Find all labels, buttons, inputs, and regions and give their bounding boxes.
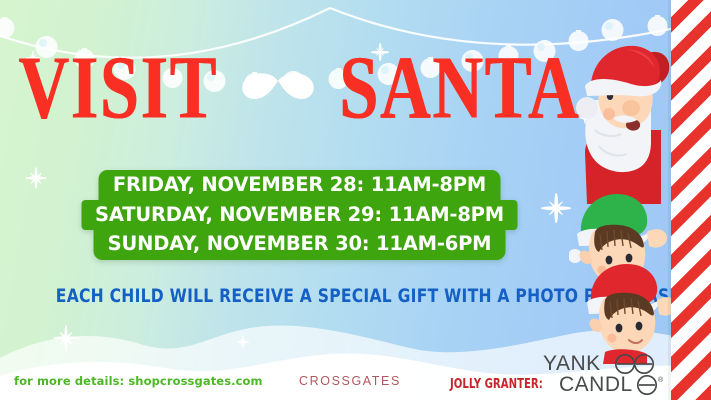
details-url[interactable]: for more details: shopcrossgates.com <box>14 374 263 388</box>
headline-word-visit: VISIT <box>18 46 218 131</box>
jolly-granter-label: JOLLY GRANTER: <box>450 377 543 392</box>
elf-red-hat-icon <box>587 264 677 364</box>
gift-tagline: EACH CHILD WILL RECEIVE A SPECIAL GIFT W… <box>56 285 564 307</box>
yankee-candle-line2: CANDL <box>559 373 633 395</box>
mustache-icon <box>241 68 315 108</box>
schedule-line-friday: FRIDAY, NOVEMBER 28: 11AM-8PM <box>99 170 500 201</box>
santa-claus-icon <box>576 46 669 204</box>
registered-trademark-icon: ® <box>658 376 664 384</box>
headline-word-santa: SANTA <box>339 46 580 131</box>
schedule-line-saturday: SATURDAY, NOVEMBER 29: 11AM-8PM <box>81 200 518 231</box>
headline: VISIT SANTA <box>0 52 600 124</box>
visit-santa-poster: VISIT SANTA FRIDAY, NOVEMBER 28: 11AM-8P… <box>0 0 711 400</box>
schedule-panel: FRIDAY, NOVEMBER 28: 11AM-8PM SATURDAY, … <box>81 170 518 260</box>
candy-cane-pole <box>671 0 711 400</box>
candy-cane-pole-edge <box>668 0 671 400</box>
crossgates-logo: CROSSGATES <box>299 374 401 388</box>
yankee-candle-logo: YANK CANDL ® <box>541 351 677 395</box>
yankee-candle-line1: YANK <box>543 352 601 375</box>
schedule-line-sunday: SUNDAY, NOVEMBER 30: 11AM-6PM <box>94 229 506 260</box>
